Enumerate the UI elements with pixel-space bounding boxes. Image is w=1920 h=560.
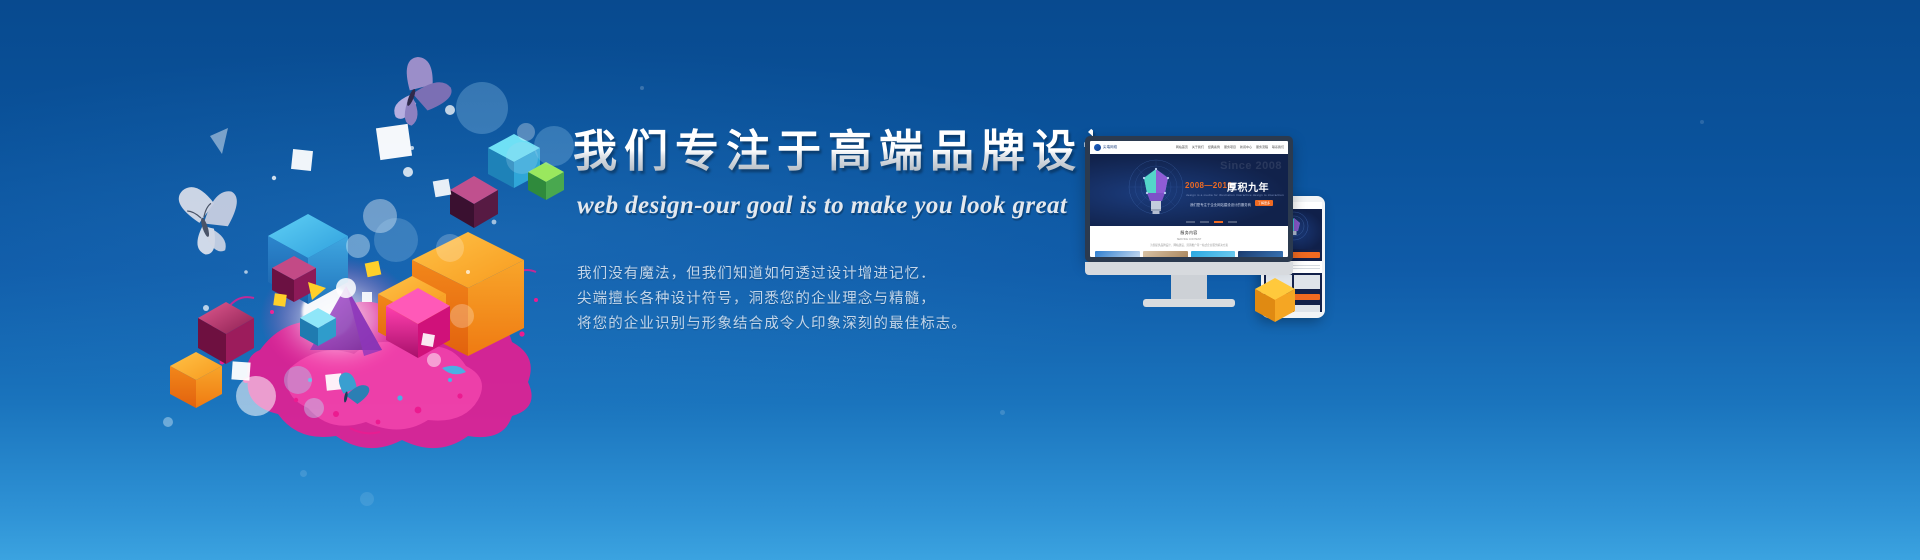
hero-slider-dot-active[interactable] [1214, 221, 1223, 223]
hero-banner: 我们专注于高端品牌设计 web design-our goal is to ma… [0, 0, 1920, 560]
site-nav-item[interactable]: 关于我们 [1192, 146, 1204, 149]
monitor-bezel-chin [1085, 262, 1293, 275]
sky-speck [1700, 120, 1704, 124]
page-title: 我们专注于高端品牌设计 [573, 128, 1093, 176]
site-nav-item[interactable]: 经典案例 [1208, 146, 1220, 149]
hero-slider-dot[interactable] [1228, 221, 1237, 223]
orange-cube-lower-left [170, 352, 222, 408]
description-line-1: 我们没有魔法，但我们知道如何透过设计增进记忆． [577, 262, 1093, 287]
butterfly-top [387, 54, 459, 135]
hero-tagline: 我们是专注于企业网站建设设计的服务商 [1190, 202, 1251, 207]
bulb-facets [1144, 169, 1168, 201]
hero-headline: 厚积九年 [1227, 179, 1269, 194]
phone-thumb [1294, 305, 1320, 313]
abstract-artwork [150, 50, 570, 450]
hero-cta-button[interactable]: 了解更多 [1255, 200, 1273, 206]
sky-speck [360, 492, 374, 506]
sky-speck [1000, 410, 1005, 415]
site-section: 服务内容 SERVICE CONTENT 为您提供品牌设计、网站建设、营销推广等… [1090, 226, 1288, 257]
banner-copy: 我们专注于高端品牌设计 web design-our goal is to ma… [573, 128, 1093, 337]
sky-speck [640, 86, 644, 90]
site-nav-item[interactable]: 新闻中心 [1240, 146, 1252, 149]
section-thumbnail[interactable] [1238, 251, 1283, 257]
device-mockups: 尖端网络 [1085, 128, 1355, 328]
site-header: 尖端网络 网站首页 关于我们 经典案例 服务项目 新闻中心 服务流程 联系我们 [1090, 141, 1288, 154]
section-thumbnail[interactable] [1095, 251, 1140, 257]
lightbulb-illustration [1124, 157, 1188, 226]
site-nav-item[interactable]: 联系我们 [1272, 146, 1284, 149]
hero-slider-dot[interactable] [1186, 221, 1195, 223]
section-thumbnail[interactable] [1143, 251, 1188, 257]
site-logo-icon [1094, 144, 1101, 151]
hero-ghost-text: Since 2008 [1220, 160, 1282, 172]
wine-cube [198, 302, 254, 364]
page-subtitle: web design-our goal is to make you look … [577, 192, 1093, 220]
site-nav-item[interactable]: 网站首页 [1176, 146, 1188, 149]
description-line-2: 尖端擅长各种设计符号，洞悉您的企业理念与精髓， [577, 287, 1093, 312]
monitor-stand-neck [1171, 275, 1207, 301]
hero-slider-dots[interactable] [1186, 221, 1237, 223]
orange-cube-decoration [1253, 276, 1297, 329]
hero-year-range: 2008—2016 [1185, 181, 1232, 190]
dark-cube-upper-right [450, 176, 498, 228]
description-block: 我们没有魔法，但我们知道如何透过设计增进记忆． 尖端擅长各种设计符号，洞悉您的企… [577, 262, 1093, 337]
phone-thumb [1294, 275, 1320, 289]
site-nav-item[interactable]: 服务流程 [1256, 146, 1268, 149]
site-nav: 网站首页 关于我们 经典案例 服务项目 新闻中心 服务流程 联系我们 [1176, 146, 1284, 149]
hero-slider-dot[interactable] [1200, 221, 1209, 223]
description-line-3: 将您的企业识别与形象结合成令人印象深刻的最佳标志。 [577, 312, 1093, 337]
monitor-screen: 尖端网络 网站首页 关于我们 经典案例 服务项目 新闻中心 服务流程 联系我们 … [1090, 141, 1288, 257]
section-thumbnail[interactable] [1191, 251, 1236, 257]
sky-speck [300, 470, 307, 477]
site-hero: Since 2008 [1090, 154, 1288, 226]
monitor-stand-base [1143, 299, 1235, 307]
butterfly-left [176, 174, 251, 259]
site-nav-item[interactable]: 服务项目 [1224, 146, 1236, 149]
section-thumbnails [1090, 247, 1288, 257]
hero-subtext: design is a media for illustration inter… [1186, 193, 1284, 197]
site-logo-label: 尖端网络 [1103, 146, 1117, 149]
section-title: 服务内容 [1090, 226, 1288, 236]
monitor-mockup: 尖端网络 网站首页 关于我们 经典案例 服务项目 新闻中心 服务流程 联系我们 … [1085, 136, 1293, 262]
